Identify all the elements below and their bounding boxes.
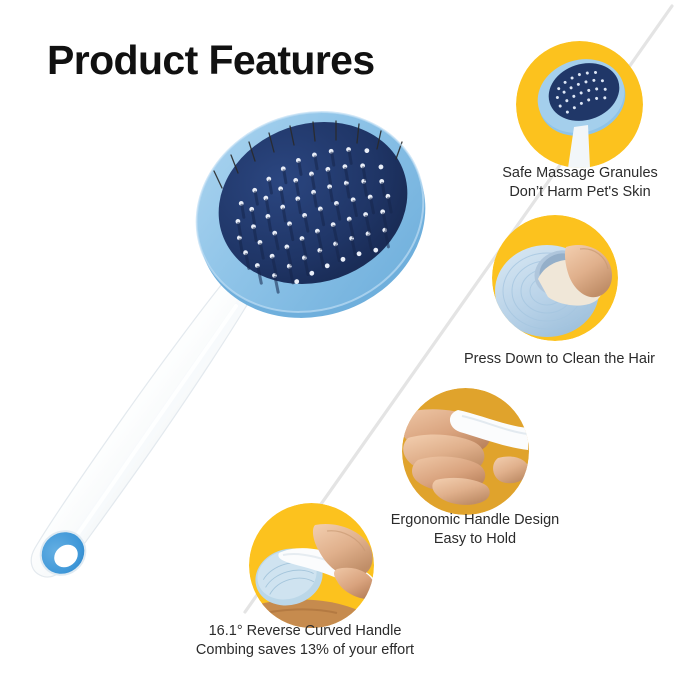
callout-press-caption: Press Down to Clean the Hair (440, 350, 679, 369)
caption-line-1: Press Down to Clean the Hair (440, 350, 679, 369)
caption-line-2: Combing saves 13% of your effort (170, 641, 440, 660)
callout-curved-circle (249, 503, 374, 628)
callout-ergonomic-caption: Ergonomic Handle Design Easy to Hold (356, 511, 594, 549)
callout-ergonomic-circle (402, 388, 529, 515)
caption-line-2: Don’t Harm Pet's Skin (482, 183, 678, 202)
infographic-canvas: Product Features (0, 0, 679, 679)
caption-line-1: 16.1° Reverse Curved Handle (170, 622, 440, 641)
caption-line-2: Easy to Hold (356, 530, 594, 549)
caption-line-1: Ergonomic Handle Design (356, 511, 594, 530)
callout-press-circle (492, 215, 618, 341)
callout-granules-caption: Safe Massage Granules Don’t Harm Pet's S… (482, 164, 678, 202)
callout-curved-caption: 16.1° Reverse Curved Handle Combing save… (170, 622, 440, 660)
callout-granules-circle (516, 41, 643, 168)
caption-line-1: Safe Massage Granules (482, 164, 678, 183)
